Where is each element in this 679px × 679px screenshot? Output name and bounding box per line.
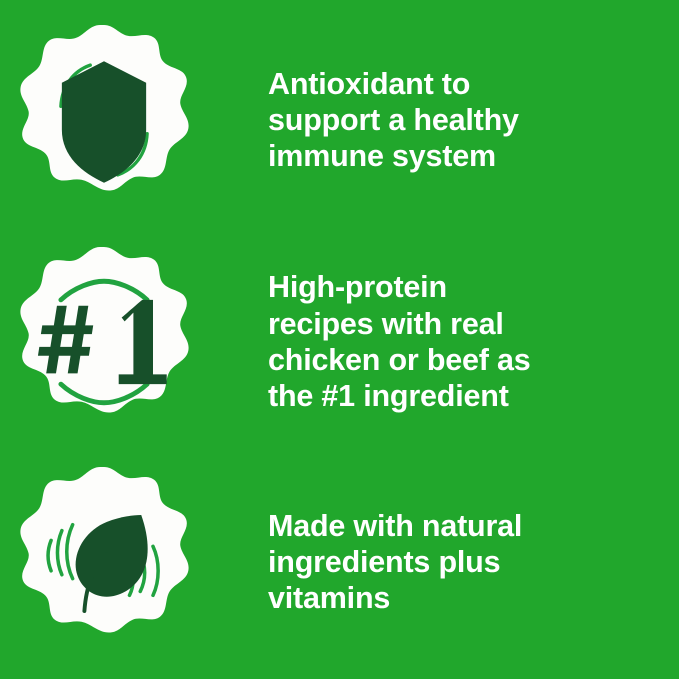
feature-row-high-protein: High-protein recipes with real chicken o…: [0, 242, 679, 442]
feature-line: Made with natural: [268, 508, 669, 544]
shield-icon: [6, 22, 202, 218]
feature-line: support a healthy: [268, 102, 669, 138]
feature-line: ingredients plus: [268, 544, 669, 580]
feature-line: High-protein: [268, 269, 669, 305]
badge-leaf: [0, 462, 208, 662]
number-one-badge-icon: [6, 244, 202, 440]
feature-line: vitamins: [268, 580, 669, 616]
feature-line: recipes with real: [268, 306, 669, 342]
feature-row-antioxidant: Antioxidant to support a healthy immune …: [0, 20, 679, 220]
feature-text-antioxidant: Antioxidant to support a healthy immune …: [208, 66, 679, 175]
feature-line: the #1 ingredient: [268, 378, 669, 414]
badge-number-one: [0, 242, 208, 442]
feature-line: chicken or beef as: [268, 342, 669, 378]
benefits-infographic: Antioxidant to support a healthy immune …: [0, 0, 679, 679]
feature-line: immune system: [268, 138, 669, 174]
feature-text-natural-ingredients: Made with natural ingredients plus vitam…: [208, 508, 679, 617]
feature-row-natural-ingredients: Made with natural ingredients plus vitam…: [0, 462, 679, 662]
feature-line: Antioxidant to: [268, 66, 669, 102]
feature-text-high-protein: High-protein recipes with real chicken o…: [208, 269, 679, 414]
leaf-icon: [6, 464, 202, 660]
badge-shield: [0, 20, 208, 220]
